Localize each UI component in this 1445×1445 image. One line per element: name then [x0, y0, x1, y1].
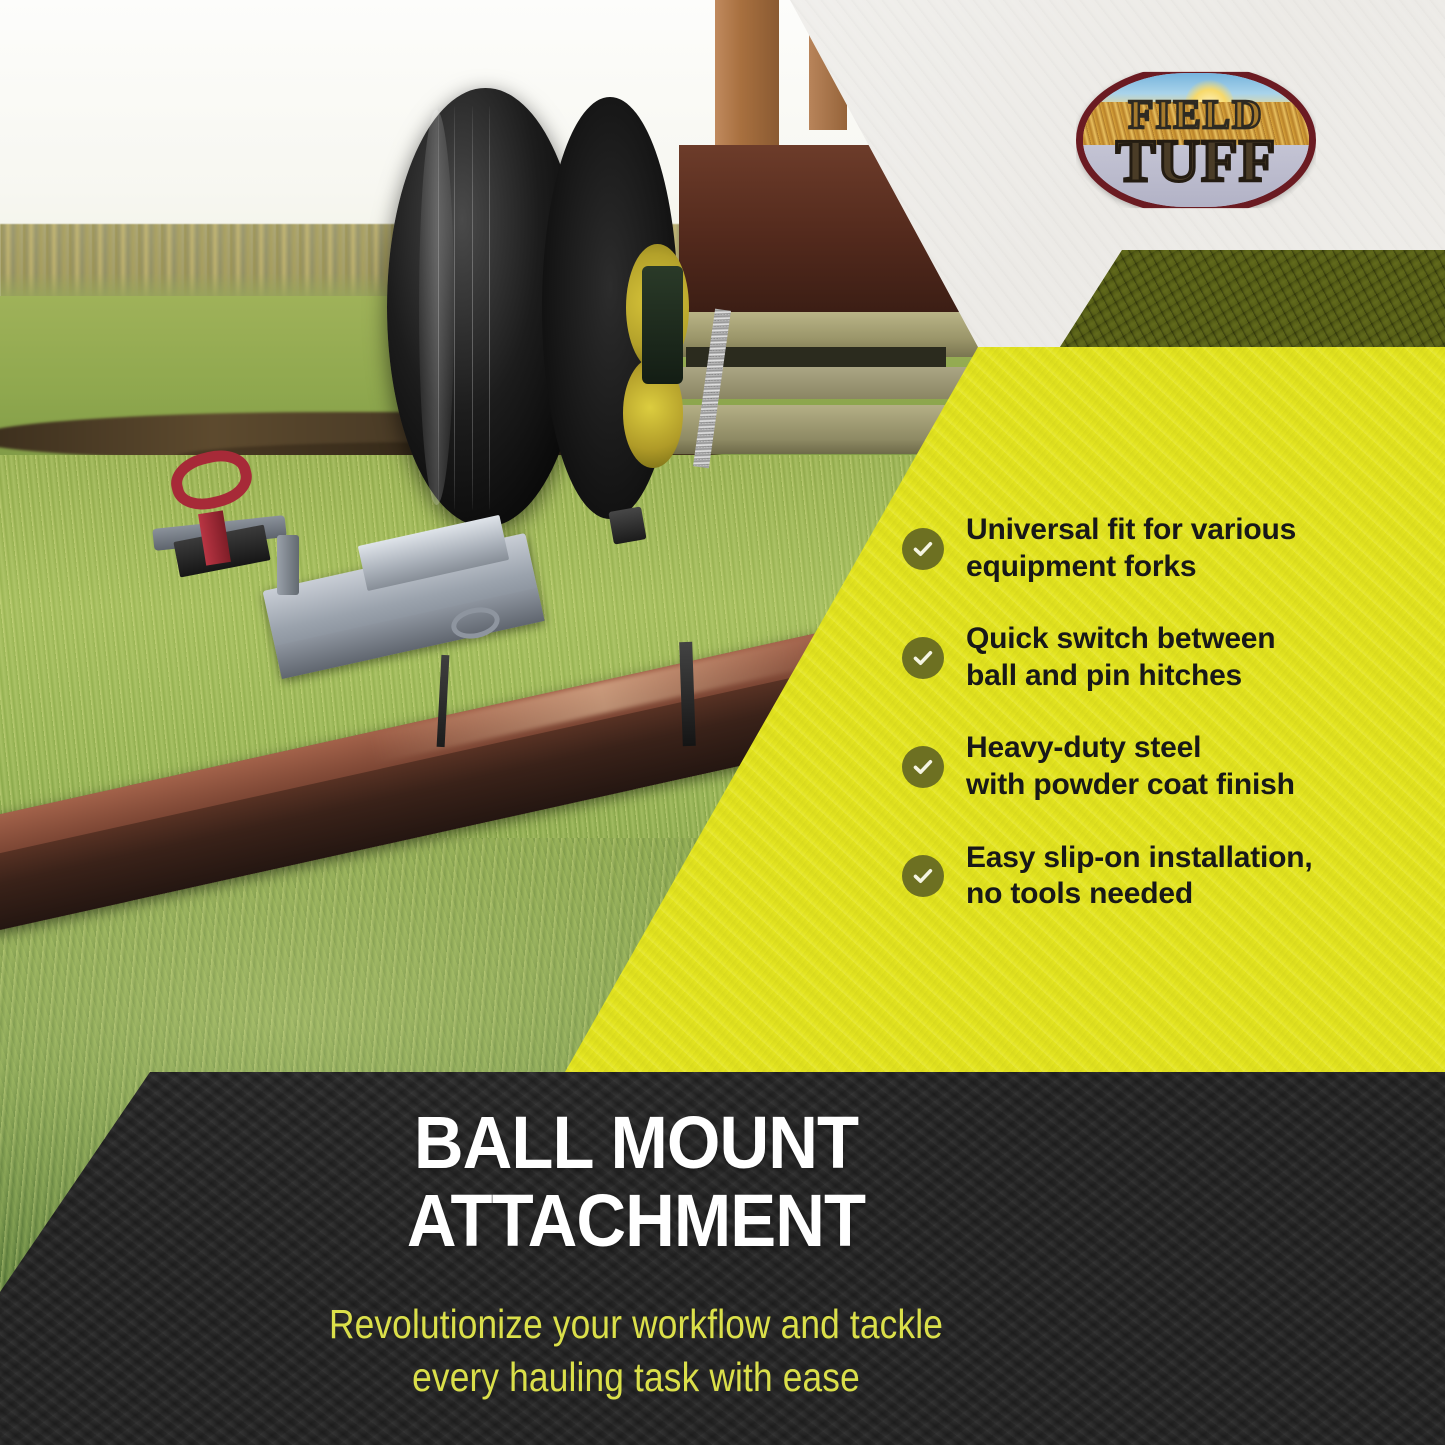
feature-line-1: Easy slip-on installation,	[966, 841, 1313, 874]
feature-item: Easy slip-on installation, no tools need…	[902, 840, 1414, 913]
product-infographic: FIELD TUFF Universal fit for various equ…	[0, 0, 1445, 1445]
check-circle-icon	[902, 528, 944, 570]
feature-line-2: equipment forks	[966, 550, 1196, 583]
logo-badge: FIELD TUFF	[1076, 66, 1316, 214]
product-tagline: Revolutionize your workflow and tackle e…	[89, 1298, 1183, 1405]
feature-list: Universal fit for various equipment fork…	[902, 512, 1414, 913]
axle-bracket	[642, 266, 683, 384]
feature-line-1: Heavy-duty steel	[966, 731, 1201, 764]
tire-sidewall	[542, 97, 678, 519]
feature-line-1: Universal fit for various	[966, 513, 1296, 546]
feature-line-2: with powder coat finish	[966, 768, 1295, 801]
check-circle-icon	[902, 746, 944, 788]
field-tuff-logo: FIELD TUFF	[1076, 66, 1316, 214]
feature-text: Heavy-duty steel with powder coat finish	[966, 730, 1295, 803]
product-title: BALL MOUNT ATTACHMENT	[0, 1104, 1272, 1259]
feature-line-2: no tools needed	[966, 877, 1193, 910]
feature-item: Quick switch between ball and pin hitche…	[902, 621, 1414, 694]
logo-word-tuff: TUFF	[1083, 127, 1309, 196]
tagline-line-1: Revolutionize your workflow and tackle	[89, 1298, 1183, 1351]
feature-text: Universal fit for various equipment fork…	[966, 512, 1296, 585]
feature-line-2: ball and pin hitches	[966, 659, 1242, 692]
hex-bolt	[609, 506, 648, 545]
hitch-handle-stem	[277, 535, 299, 596]
tagline-line-2: every hauling task with ease	[89, 1351, 1183, 1404]
feature-text: Easy slip-on installation, no tools need…	[966, 840, 1313, 913]
check-circle-icon	[902, 637, 944, 679]
feature-text: Quick switch between ball and pin hitche…	[966, 621, 1275, 694]
product-title-line-1: BALL MOUNT	[45, 1104, 1228, 1182]
feature-item: Universal fit for various equipment fork…	[902, 512, 1414, 585]
feature-line-1: Quick switch between	[966, 622, 1275, 655]
check-circle-icon	[902, 855, 944, 897]
product-title-line-2: ATTACHMENT	[45, 1182, 1228, 1260]
feature-item: Heavy-duty steel with powder coat finish	[902, 730, 1414, 803]
